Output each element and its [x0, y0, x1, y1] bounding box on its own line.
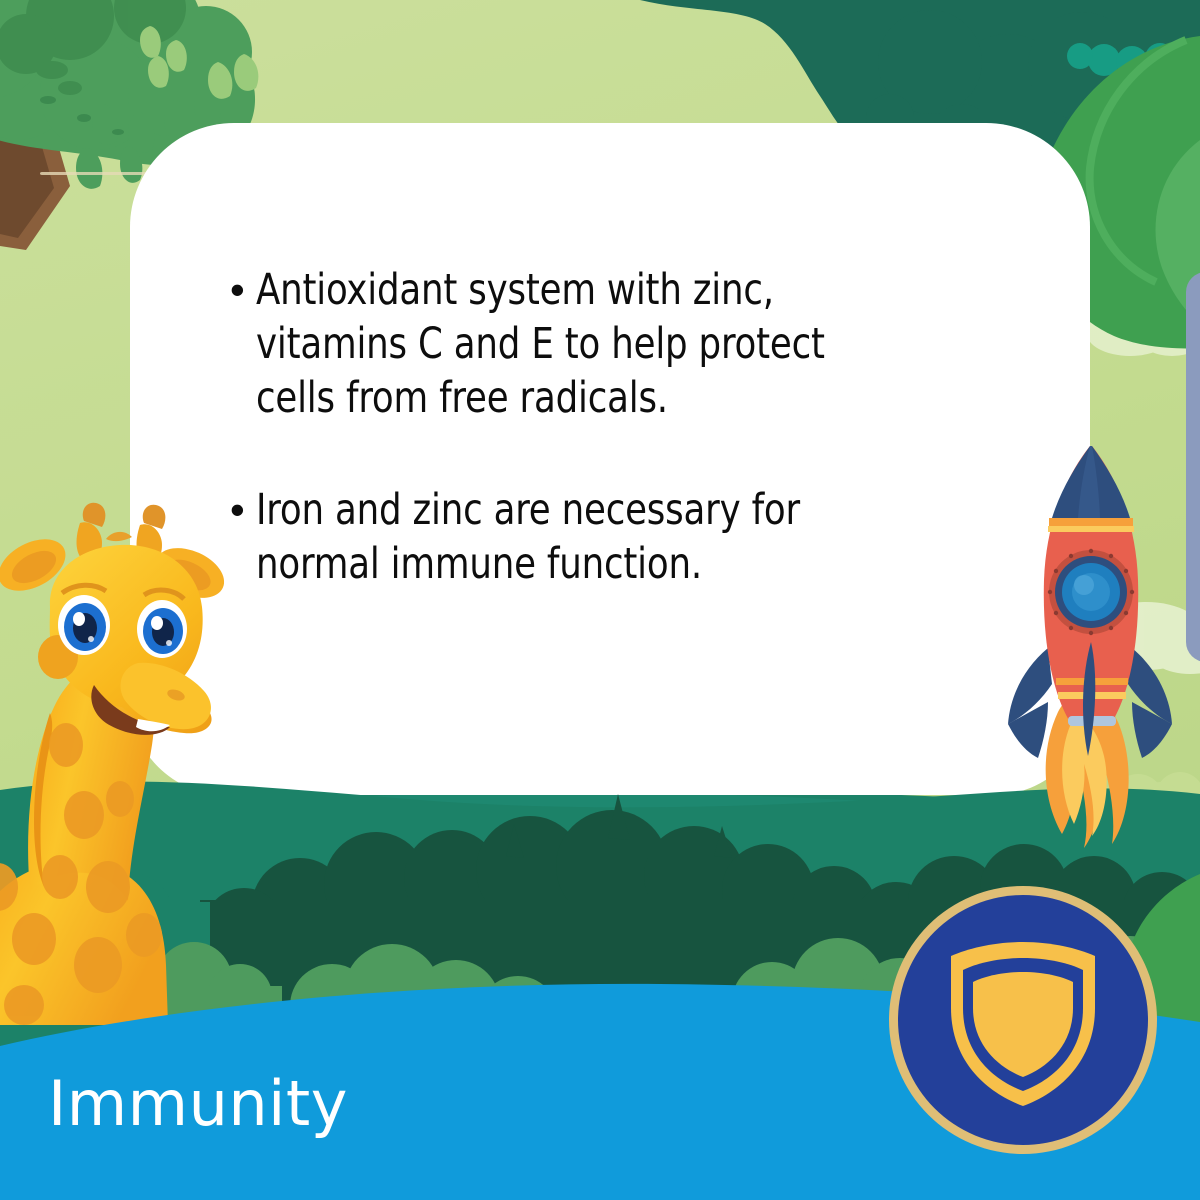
slide-root: • Antioxidant system with zinc, vitamins… — [0, 0, 1200, 1200]
page-title: Immunity — [48, 1068, 348, 1140]
status-badge[interactable] — [887, 884, 1159, 1156]
